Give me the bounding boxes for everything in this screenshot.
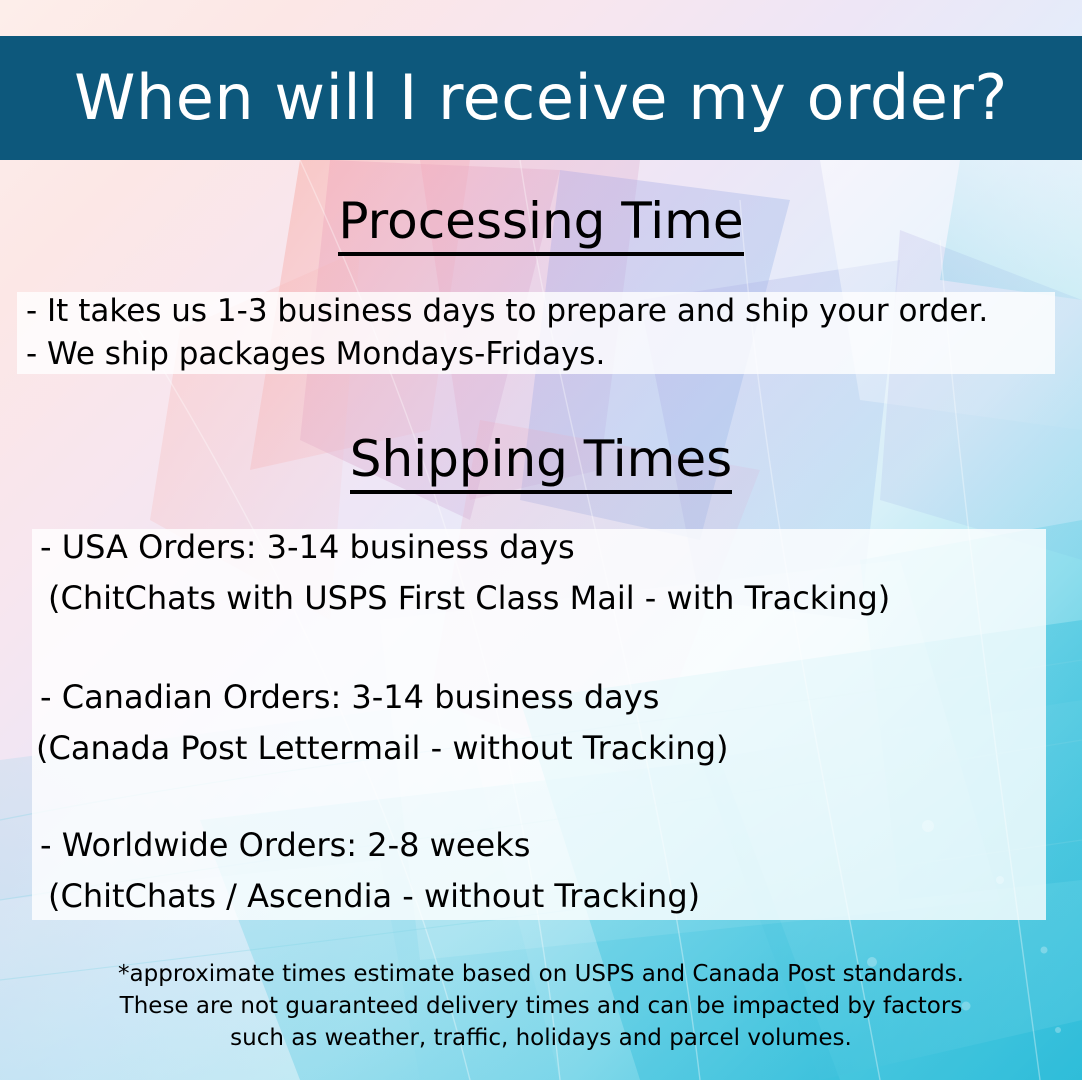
header-banner: When will I receive my order?: [0, 36, 1082, 160]
shipping-group-usa-title: - USA Orders: 3-14 business days: [40, 531, 575, 563]
footnote-disclaimer: *approximate times estimate based on USP…: [0, 958, 1082, 1054]
section-heading-shipping-times: Shipping Times: [0, 434, 1082, 494]
shipping-group-usa-detail: (ChitChats with USPS First Class Mail - …: [48, 582, 890, 614]
section-heading-shipping-times-label: Shipping Times: [350, 434, 732, 494]
shipping-group-canada-detail: (Canada Post Lettermail - without Tracki…: [36, 732, 729, 764]
shipping-group-canada-title: - Canadian Orders: 3-14 business days: [40, 681, 659, 713]
processing-time-line-1: - It takes us 1-3 business days to prepa…: [26, 296, 988, 327]
shipping-group-worldwide-detail: (ChitChats / Ascendia - without Tracking…: [48, 880, 700, 912]
footnote-line-2: These are not guaranteed delivery times …: [0, 990, 1082, 1022]
footnote-line-3: such as weather, traffic, holidays and p…: [0, 1022, 1082, 1054]
page-title: When will I receive my order?: [74, 67, 1008, 129]
footnote-line-1: *approximate times estimate based on USP…: [0, 958, 1082, 990]
section-heading-processing-time: Processing Time: [0, 196, 1082, 256]
section-heading-processing-time-label: Processing Time: [338, 196, 743, 256]
shipping-info-poster: When will I receive my order? Processing…: [0, 0, 1082, 1080]
shipping-group-worldwide-title: - Worldwide Orders: 2-8 weeks: [40, 829, 530, 861]
processing-time-line-2: - We ship packages Mondays-Fridays.: [26, 339, 605, 370]
